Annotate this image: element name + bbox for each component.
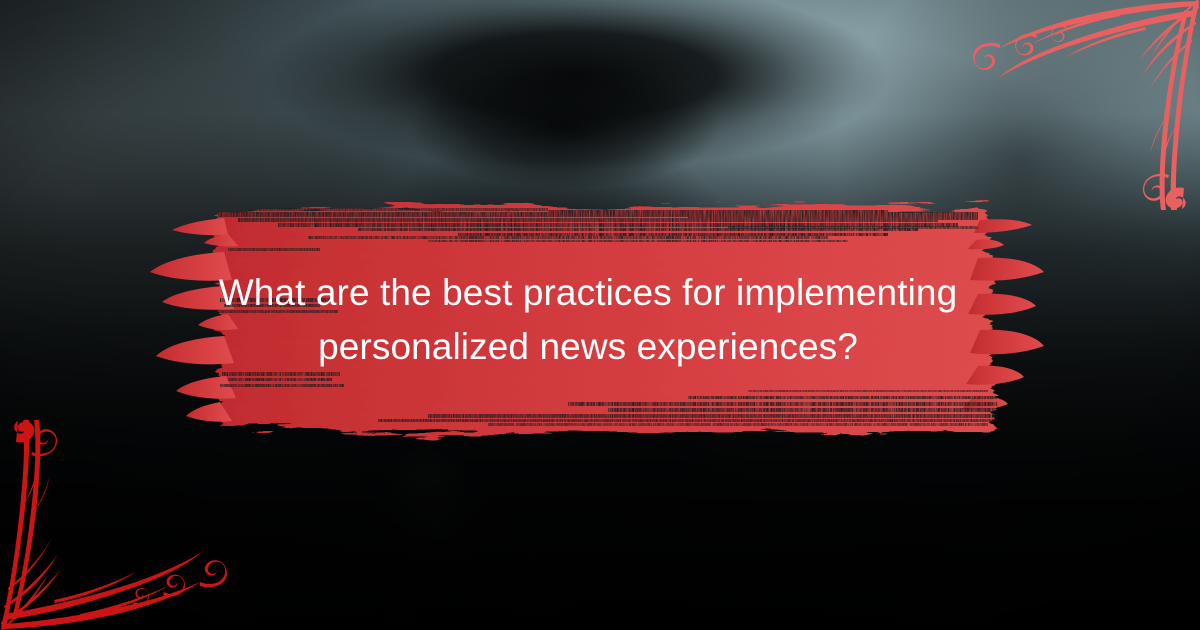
social-share-card: What are the best practices for implemen… bbox=[0, 0, 1200, 630]
corner-ornament-bottom-left bbox=[0, 420, 230, 630]
flourish-icon bbox=[1, 420, 227, 630]
headline-line-2: personalized news experiences? bbox=[318, 322, 858, 372]
headline-text: What are the best practices for implemen… bbox=[128, 190, 1048, 450]
corner-ornament-top-right bbox=[970, 0, 1200, 210]
headline-line-1: What are the best practices for implemen… bbox=[219, 268, 958, 318]
flourish-icon bbox=[973, 0, 1199, 210]
